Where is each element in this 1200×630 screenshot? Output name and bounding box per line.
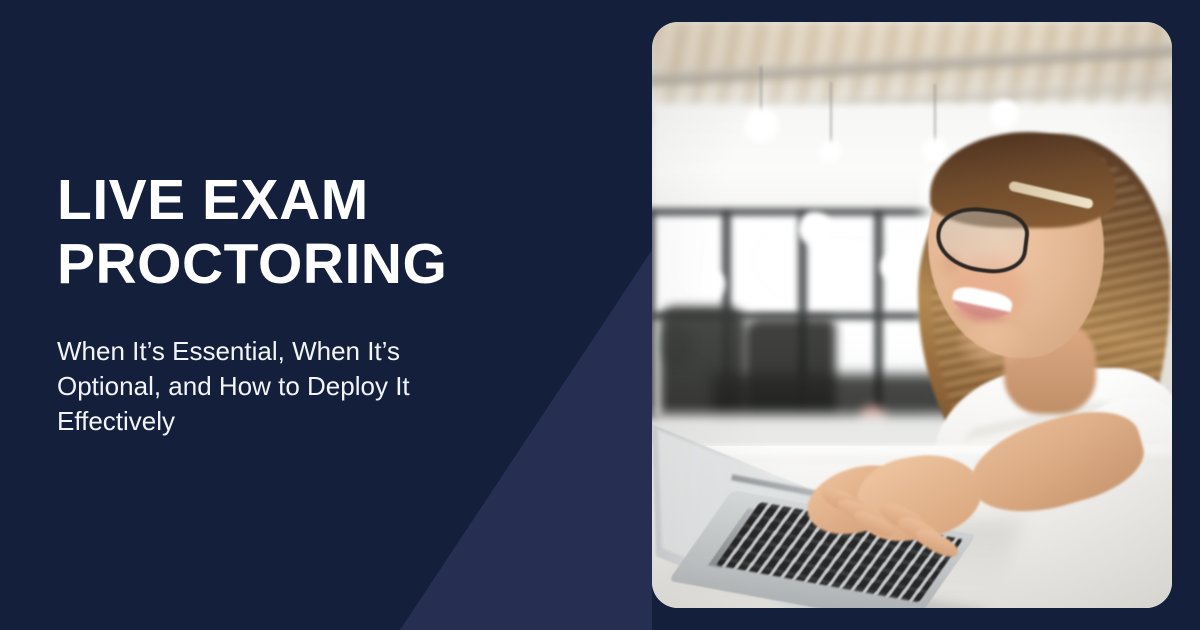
pendant-cord-3 [934, 84, 936, 146]
pendant-light-1 [744, 108, 780, 144]
chin [956, 322, 1030, 368]
text-block: Live Exam Proctoring When It’s Essential… [57, 168, 577, 439]
pendant-light-3 [922, 138, 948, 164]
bokeh-light-2 [880, 254, 906, 280]
pendant-cord-2 [830, 82, 832, 148]
hero-photo [652, 22, 1172, 608]
bokeh-light-1 [798, 212, 832, 246]
pendant-light-2 [819, 140, 843, 164]
page-title: Live Exam Proctoring [57, 168, 577, 296]
page-subtitle: When It’s Essential, When It’s Optional,… [57, 334, 487, 439]
bokeh-light-3 [696, 270, 726, 300]
social-share-banner: Live Exam Proctoring When It’s Essential… [0, 0, 1200, 630]
pendant-light-4 [990, 100, 1020, 130]
